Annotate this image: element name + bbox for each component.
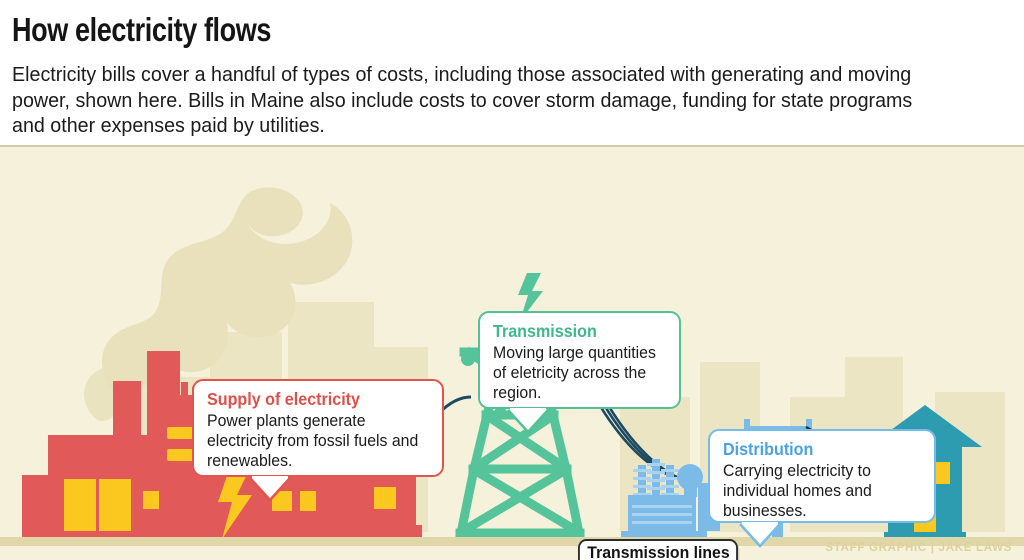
callout-transmission-body: Moving large quantities of eletricity ac… xyxy=(493,343,663,403)
page-title: How electricity flows xyxy=(12,12,271,48)
illustration-panel: Supply of electricity Power plants gener… xyxy=(0,147,1024,560)
header: How electricity flows Electricity bills … xyxy=(0,0,1024,146)
callout-supply-tail xyxy=(248,476,292,502)
callout-distribution: Distribution Carrying electricity to ind… xyxy=(708,429,936,523)
infographic: How electricity flows Electricity bills … xyxy=(0,0,1024,560)
deck-text: Electricity bills cover a handful of typ… xyxy=(12,62,934,139)
callout-transmission: Transmission Moving large quantities of … xyxy=(478,311,681,409)
credit-line: STAFF GRAPHIC | JAKE LAWS xyxy=(825,542,1012,554)
callout-transmission-title: Transmission xyxy=(493,321,656,342)
callout-supply: Supply of electricity Power plants gener… xyxy=(192,379,444,477)
callout-distribution-tail xyxy=(738,522,782,548)
callout-distribution-body: Carrying electricity to individual homes… xyxy=(723,461,917,521)
callout-supply-title: Supply of electricity xyxy=(207,389,415,410)
callout-transmission-tail xyxy=(506,408,550,434)
callout-distribution-title: Distribution xyxy=(723,439,909,460)
callout-supply-body: Power plants generate electricity from f… xyxy=(207,411,424,471)
label-transmission-lines: Transmission lines xyxy=(578,539,738,560)
